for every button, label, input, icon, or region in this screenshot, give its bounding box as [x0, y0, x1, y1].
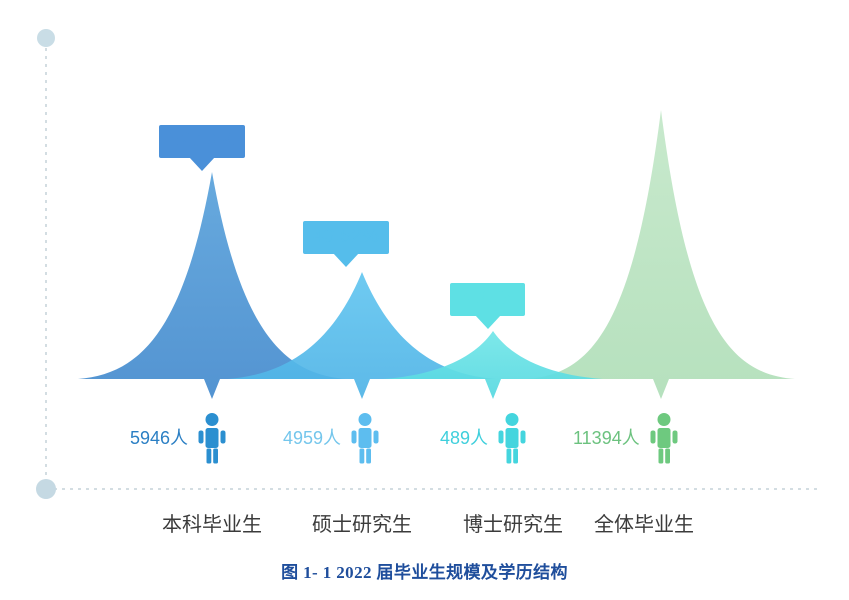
count-label-bachelor: 5946人 [130, 428, 188, 448]
infographic-chart: 52.19% 43.52% 4.29% 5946人 4959人 [0, 0, 849, 600]
person-icon [350, 412, 380, 464]
percent-callout-doctor-label: 4.29% [460, 288, 515, 309]
count-group-bachelor: 5946人 [130, 410, 227, 466]
count-label-doctor: 489人 [440, 428, 488, 448]
count-label-all: 11394人 [573, 428, 640, 448]
figure-caption: 图 1- 1 2022 届毕业生规模及学历结构 [0, 558, 849, 583]
percent-callout-bachelor[interactable]: 52.19% [159, 125, 245, 158]
category-label-all: 全体毕业生 [554, 512, 734, 538]
callout-tail-icon [333, 253, 359, 267]
axis-top-dot [37, 29, 55, 47]
axis-origin-dot [36, 479, 56, 499]
count-group-doctor: 489人 [440, 410, 527, 466]
chart-canvas [0, 0, 849, 600]
percent-callout-master[interactable]: 43.52% [303, 221, 389, 254]
percent-callout-bachelor-label: 52.19% [169, 130, 235, 151]
count-group-all: 11394人 [573, 410, 679, 466]
percent-callout-master-label: 43.52% [313, 226, 379, 247]
person-icon [649, 412, 679, 464]
count-label-master: 4959人 [283, 428, 341, 448]
percent-callout-doctor[interactable]: 4.29% [450, 283, 525, 316]
person-icon [497, 412, 527, 464]
person-icon [197, 412, 227, 464]
peak-area-all [527, 110, 795, 399]
callout-tail-icon [189, 157, 215, 171]
count-group-master: 4959人 [283, 410, 380, 466]
callout-tail-icon [475, 315, 501, 329]
